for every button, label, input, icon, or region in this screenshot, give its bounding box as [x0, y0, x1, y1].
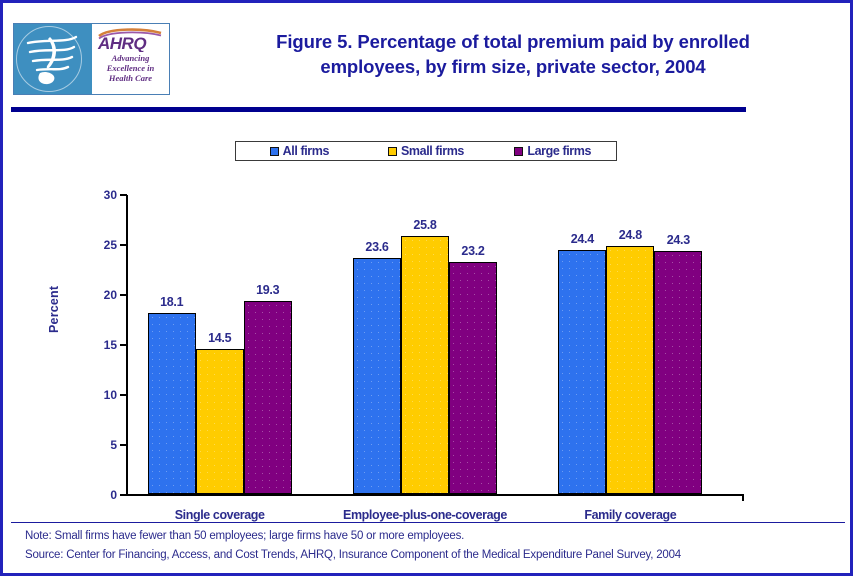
ahrq-wordmark-icon: AHRQ	[95, 28, 167, 52]
footnote-source: Source: Center for Financing, Access, an…	[25, 546, 835, 565]
ahrq-tagline-2: Excellence in	[107, 63, 154, 73]
chart-figure: All firmsSmall firmsLarge firms Percent …	[3, 115, 850, 520]
y-axis-tick	[120, 244, 127, 246]
footer-divider	[11, 522, 845, 523]
y-axis-tick	[120, 444, 127, 446]
bar-value-label: 24.8	[619, 228, 642, 242]
y-axis-tick-label: 20	[104, 288, 117, 302]
page-title-line-2: employees, by firm size, private sector,…	[183, 54, 843, 79]
bar-2-0	[558, 250, 606, 494]
legend-item-2: Large firms	[489, 144, 616, 158]
x-axis-category-label: Single coverage	[175, 508, 265, 522]
y-axis-tick-label: 30	[104, 188, 117, 202]
x-axis-end-tick	[742, 494, 744, 501]
y-axis-tick	[120, 494, 127, 496]
header-divider	[11, 107, 746, 112]
chart-legend: All firmsSmall firmsLarge firms	[235, 141, 617, 161]
ahrq-tagline: Advancing Excellence in Health Care	[107, 53, 154, 83]
legend-label: All firms	[283, 144, 329, 158]
y-axis-tick	[120, 344, 127, 346]
bar-value-label: 25.8	[413, 218, 436, 232]
hhs-seal-icon	[14, 24, 92, 94]
bar-1-0	[353, 258, 401, 494]
bar-2-2	[654, 251, 702, 494]
figure-page: AHRQ Advancing Excellence in Health Care…	[0, 0, 853, 576]
bar-1-1	[401, 236, 449, 494]
bar-0-2	[244, 301, 292, 494]
ahrq-wordmark-block: AHRQ Advancing Excellence in Health Care	[92, 24, 169, 94]
bar-value-label: 24.4	[571, 232, 594, 246]
y-axis-tick-label: 5	[110, 438, 117, 452]
bar-0-0	[148, 313, 196, 494]
y-axis-tick-label: 10	[104, 388, 117, 402]
page-title-line-1: Figure 5. Percentage of total premium pa…	[183, 29, 843, 54]
legend-swatch-icon	[270, 147, 279, 156]
legend-swatch-icon	[514, 147, 523, 156]
bar-value-label: 18.1	[160, 295, 183, 309]
legend-label: Small firms	[401, 144, 464, 158]
bar-value-label: 14.5	[208, 331, 231, 345]
x-axis-category-label: Family coverage	[584, 508, 676, 522]
plot-area: 05101520253018.114.519.323.625.823.224.4…	[127, 195, 743, 495]
y-axis-tick-label: 15	[104, 338, 117, 352]
legend-label: Large firms	[527, 144, 591, 158]
y-axis-tick-label: 25	[104, 238, 117, 252]
footnote-note: Note: Small firms have fewer than 50 emp…	[25, 527, 835, 546]
bar-value-label: 24.3	[667, 233, 690, 247]
y-axis-tick	[120, 294, 127, 296]
ahrq-tagline-1: Advancing	[107, 53, 154, 63]
legend-item-1: Small firms	[363, 144, 490, 158]
page-header: AHRQ Advancing Excellence in Health Care…	[3, 3, 850, 103]
bar-0-1	[196, 349, 244, 494]
legend-swatch-icon	[388, 147, 397, 156]
x-axis-category-label: Employee-plus-one-coverage	[343, 508, 507, 522]
y-axis-title: Percent	[47, 286, 61, 333]
ahrq-tagline-3: Health Care	[107, 73, 154, 83]
bar-2-1	[606, 246, 654, 494]
y-axis-tick-label: 0	[110, 488, 117, 502]
bar-value-label: 19.3	[256, 283, 279, 297]
bar-value-label: 23.2	[461, 244, 484, 258]
bar-value-label: 23.6	[365, 240, 388, 254]
y-axis-tick	[120, 194, 127, 196]
hhs-bird-icon	[20, 31, 86, 87]
bar-1-2	[449, 262, 497, 494]
x-axis-line	[126, 494, 744, 496]
svg-text:AHRQ: AHRQ	[97, 34, 146, 52]
ahrq-logo: AHRQ Advancing Excellence in Health Care	[13, 23, 170, 95]
page-title: Figure 5. Percentage of total premium pa…	[183, 29, 843, 79]
page-footer: Note: Small firms have fewer than 50 emp…	[25, 527, 835, 565]
legend-item-0: All firms	[236, 144, 363, 158]
y-axis-tick	[120, 394, 127, 396]
